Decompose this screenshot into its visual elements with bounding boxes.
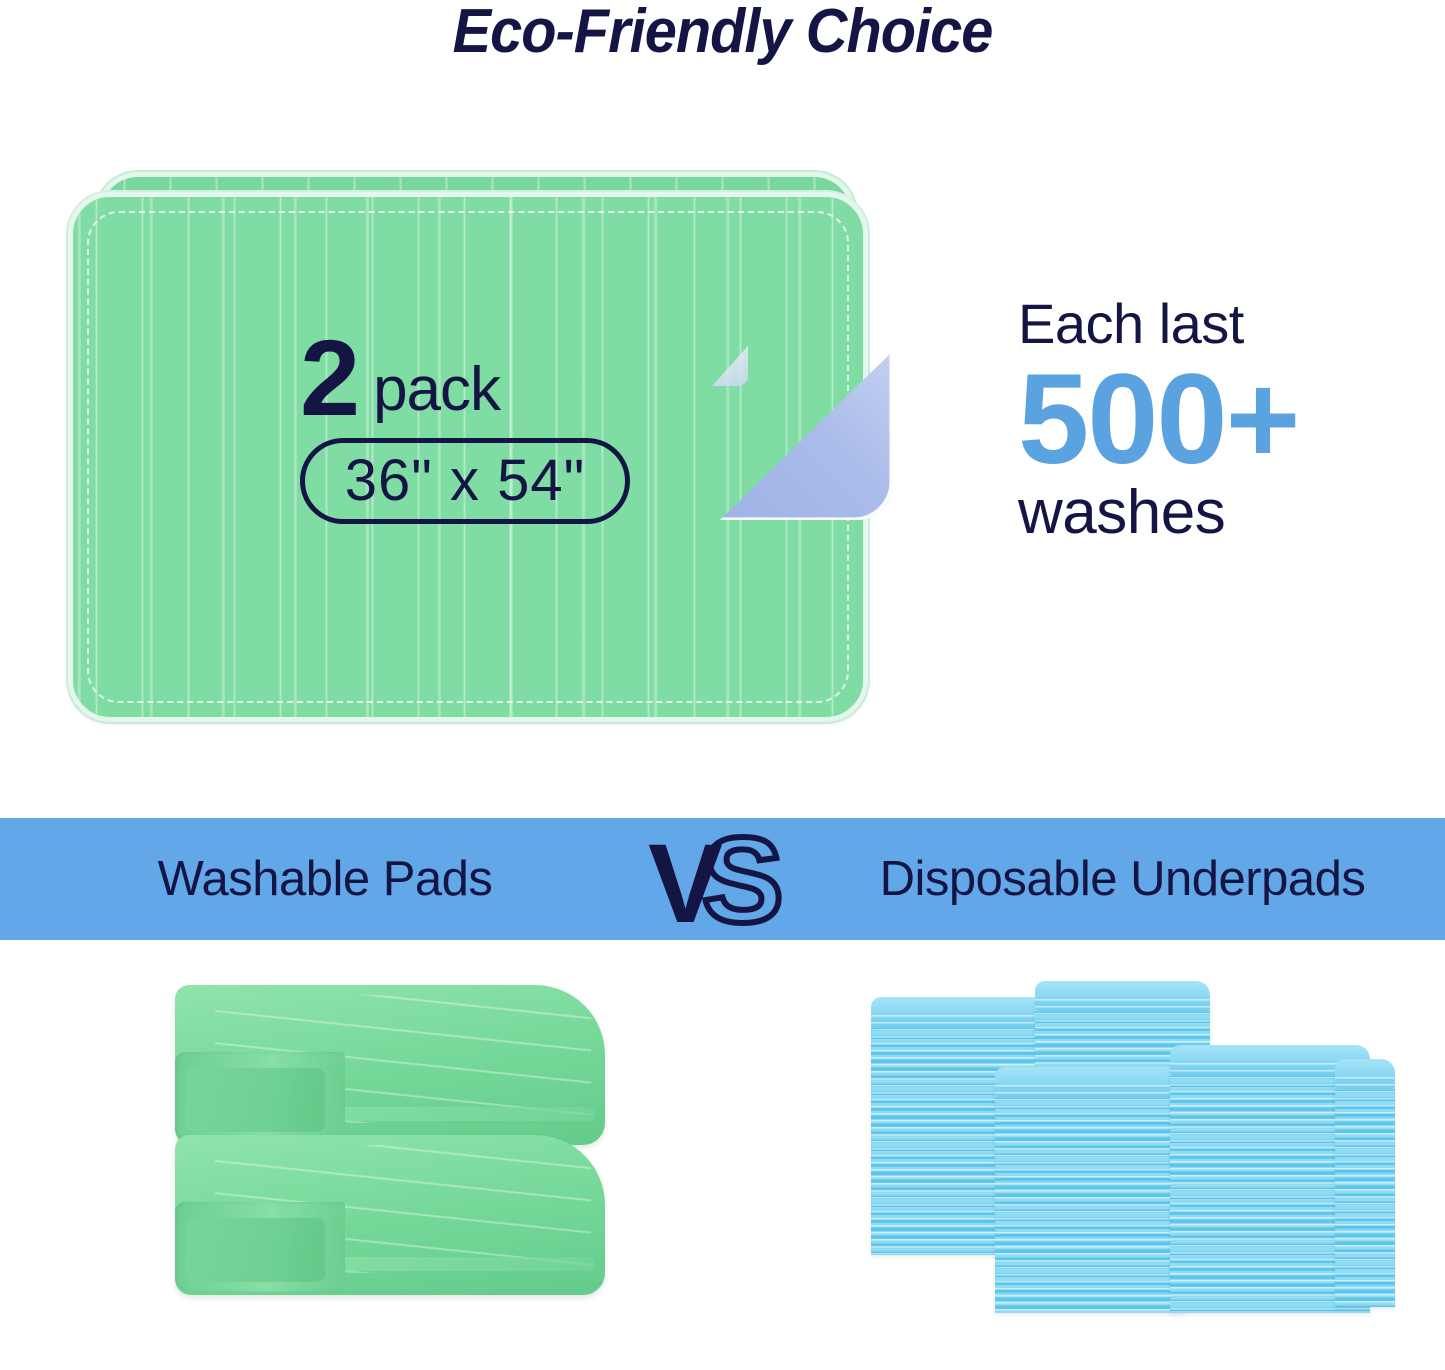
sheet-edges-texture: [1335, 1077, 1395, 1307]
folded-pad-top: [175, 985, 605, 1145]
size-label: 36" x 54": [345, 447, 585, 514]
pack-count: 2: [300, 332, 357, 424]
comparison-right-label: Disposable Underpads: [880, 851, 1366, 907]
pad-crease-inner: [185, 1218, 325, 1282]
vs-badge-icon: V S: [640, 822, 820, 940]
infographic-canvas: Eco-Friendly Choice 2 pack 36" x 54" Eac…: [0, 0, 1445, 1370]
washes-claim-group: Each last 500+ washes: [1018, 295, 1398, 545]
folded-washable-pads-image: [175, 985, 625, 1305]
page-title: Eco-Friendly Choice: [51, 0, 1395, 67]
svg-text:S: S: [702, 822, 783, 940]
folded-pad-bottom: [175, 1135, 605, 1295]
comparison-left-label-wrap: Washable Pads: [0, 818, 650, 940]
pad-crease-inner: [185, 1068, 325, 1132]
comparison-band: Washable Pads V S Disposable Underpads: [0, 818, 1445, 940]
comparison-left-label: Washable Pads: [158, 851, 493, 907]
sheet-edges-texture: [995, 1085, 1185, 1313]
underpad-stack: [1335, 1077, 1395, 1307]
claim-wash-count: 500+: [1018, 356, 1398, 484]
underpad-stack: [995, 1085, 1185, 1313]
claim-line-top: Each last: [1018, 295, 1398, 354]
pack-label-group: 2 pack 36" x 54": [300, 332, 630, 524]
pack-line: 2 pack: [300, 332, 630, 424]
folded-corner-icon: [720, 352, 892, 520]
claim-line-bottom: washes: [1018, 480, 1398, 545]
size-badge: 36" x 54": [300, 438, 630, 524]
comparison-right-label-wrap: Disposable Underpads: [800, 818, 1445, 940]
disposable-underpad-stacks-image: [865, 985, 1405, 1315]
pack-word: pack: [373, 361, 500, 420]
